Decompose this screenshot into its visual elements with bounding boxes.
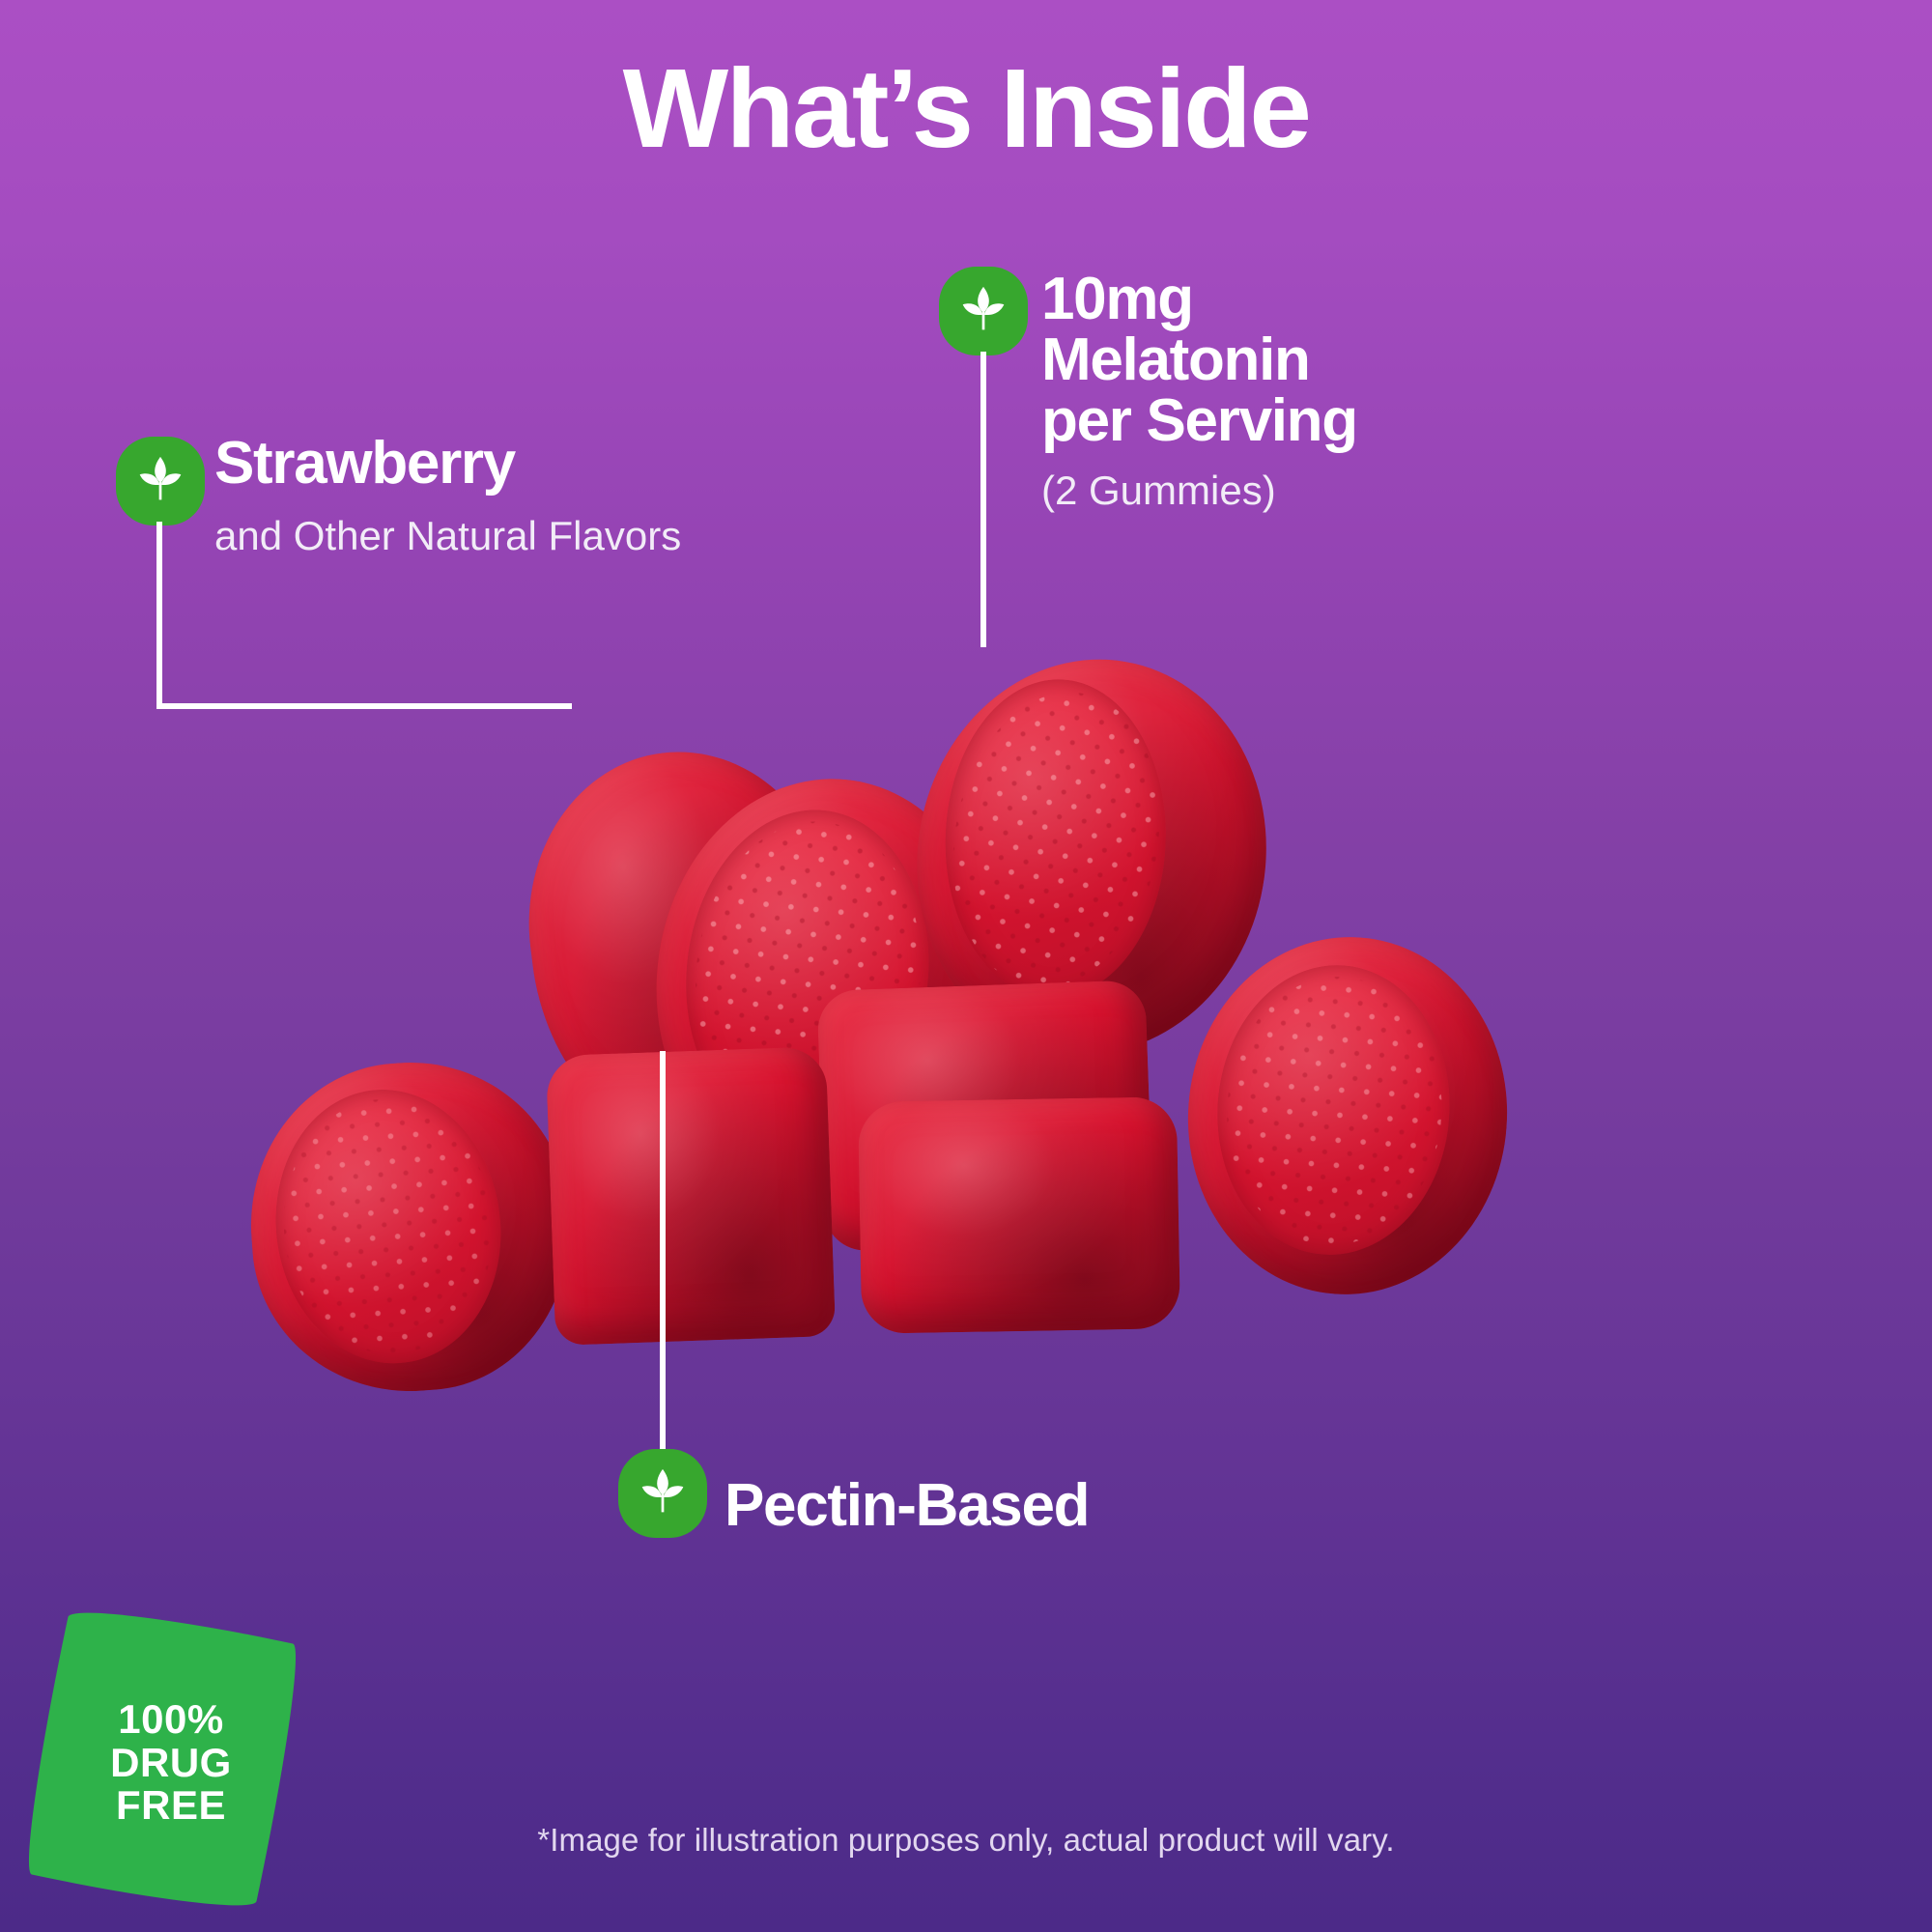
- gummy-front-left-cube: [546, 1046, 836, 1346]
- callout-pectin: Pectin-Based: [724, 1475, 1089, 1536]
- leaf-sprout-icon-pectin: [618, 1449, 707, 1538]
- callout-melatonin-headline: 10mg Melatonin per Serving: [1041, 269, 1357, 452]
- callout-melatonin-sub: (2 Gummies): [1041, 468, 1357, 514]
- page-title: What’s Inside: [0, 50, 1932, 168]
- callout-strawberry-sub: and Other Natural Flavors: [214, 513, 681, 559]
- callout-melatonin: 10mg Melatonin per Serving (2 Gummies): [1041, 269, 1357, 514]
- gummy-back-left: [241, 1052, 582, 1402]
- connector-line-melatonin-vertical: [980, 352, 986, 647]
- connector-line-pectin-vertical: [660, 1051, 666, 1449]
- gummy-right: [1176, 926, 1519, 1305]
- callout-pectin-headline: Pectin-Based: [724, 1475, 1089, 1536]
- gummy-front-right-cube: [858, 1096, 1180, 1334]
- connector-line-strawberry-vertical: [156, 522, 162, 709]
- infographic-canvas: What’s Inside: [0, 0, 1932, 1932]
- callout-strawberry-headline: Strawberry: [214, 433, 681, 494]
- drug-free-line-1: 100%: [118, 1698, 223, 1742]
- gummy-texture: [930, 676, 1181, 1005]
- connector-line-strawberry-horizontal: [156, 703, 572, 709]
- leaf-sprout-icon-strawberry: [116, 437, 205, 526]
- product-gummy-cluster: [270, 696, 1681, 1391]
- leaf-sprout-icon-melatonin: [939, 267, 1028, 355]
- callout-strawberry: Strawberry and Other Natural Flavors: [214, 433, 681, 559]
- drug-free-line-2: DRUG: [110, 1742, 232, 1785]
- disclaimer-text: *Image for illustration purposes only, a…: [0, 1822, 1932, 1859]
